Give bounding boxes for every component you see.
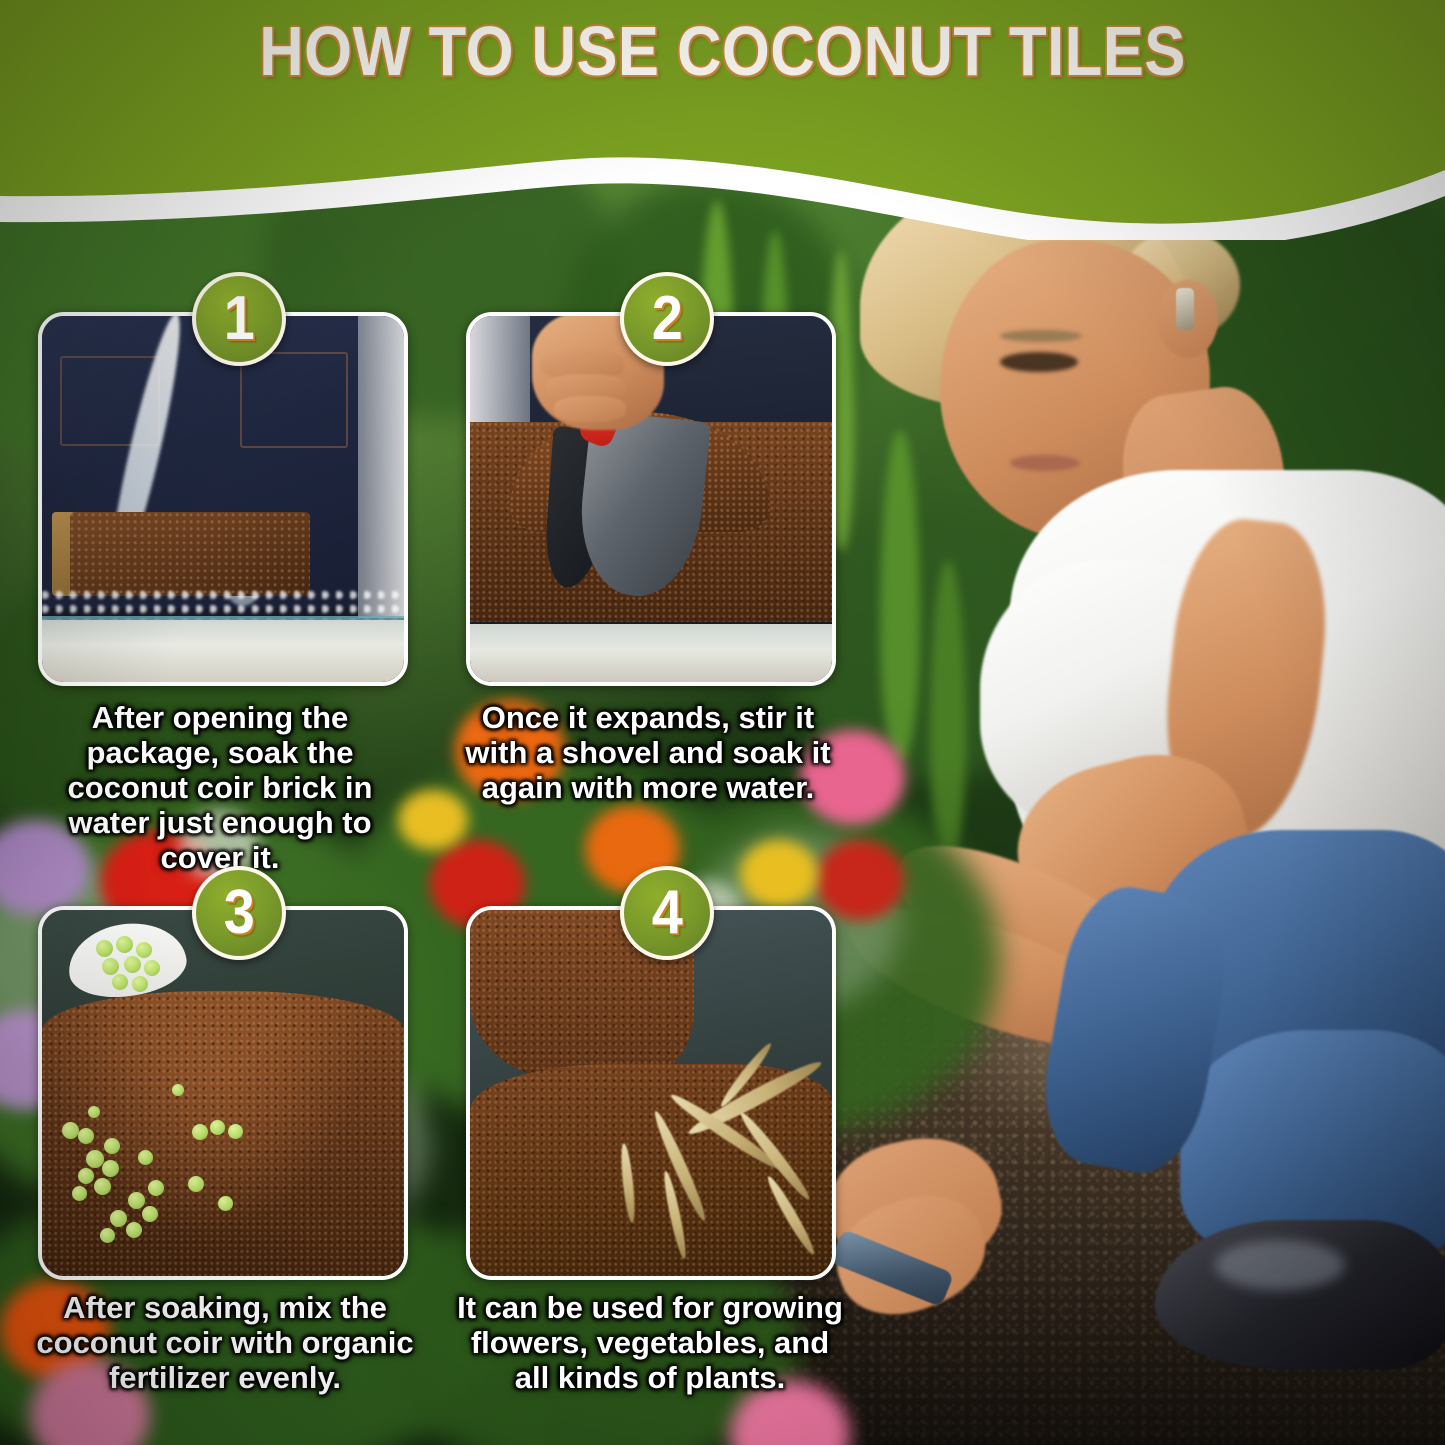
table-surface [470,624,832,682]
fertilizer-pellet [172,1084,184,1096]
step-caption-4: It can be used for growing flowers, vege… [450,1290,850,1395]
fertilizer-pellet [126,1222,142,1238]
fertilizer-pellet [112,974,128,990]
step-number-4: 4 [651,882,682,944]
denim-pocket [240,352,348,448]
fertilizer-pellet [94,1178,111,1195]
fertilizer-pellet [228,1124,243,1139]
step-number-1: 1 [223,288,254,350]
fertilizer-pellet [110,1210,127,1227]
step-panel-2[interactable] [466,312,836,686]
step-1-photo [42,316,404,682]
step-number-2: 2 [651,288,682,350]
step-panel-4[interactable] [466,906,836,1280]
fertilizer-pellet [102,958,119,975]
fertilizer-pellet [138,1150,153,1165]
fertilizer-pellet [100,1228,115,1243]
step-panel-3[interactable] [38,906,408,1280]
fertilizer-pellet [116,936,133,953]
tub-rim [358,316,404,618]
fertilizer-pellet [218,1196,233,1211]
woman-eye [1000,352,1078,372]
fertilizer-pellet [136,942,152,958]
fertilizer-pellet [62,1122,79,1139]
step-caption-1: After opening the package, soak the coco… [30,700,410,875]
step-badge-2: 2 [620,272,714,366]
flower-yellow [740,840,818,908]
fertilizer-pellet [144,960,160,976]
woman-mouth [1010,455,1080,471]
fertilizer-pellet [124,956,141,973]
flower-red [816,840,904,920]
step-number-3: 3 [223,882,254,944]
fertilizer-pellet [210,1120,225,1135]
fertilizer-pellet [192,1124,208,1140]
fertilizer-pellet [188,1176,204,1192]
step-panel-1[interactable] [38,312,408,686]
fertilizer-pellet [142,1206,158,1222]
boot-highlight [1215,1240,1345,1290]
fertilizer-pellet [96,940,113,957]
step-badge-1: 1 [192,272,286,366]
step-caption-2: Once it expands, stir it with a shovel a… [458,700,838,805]
fertilizer-pellet [78,1168,94,1184]
coir-brick [70,512,310,596]
step-3-photo [42,910,404,1276]
step-caption-3: After soaking, mix the coconut coir with… [30,1290,420,1395]
step-4-photo [470,910,832,1276]
fertilizer-pellet [88,1106,100,1118]
earring [1176,288,1194,330]
step-2-photo [470,316,832,682]
finger [554,396,626,422]
step-badge-4: 4 [620,866,714,960]
fertilizer-pellet [78,1128,94,1144]
fertilizer-pellet [104,1138,120,1154]
infographic-canvas: HOW TO USE COCONUT TILES 1 After opening… [0,0,1445,1445]
fertilizer-pellet [132,976,148,992]
fertilizer-pellet [102,1160,119,1177]
fertilizer-pellet [148,1180,164,1196]
table-surface [42,620,404,682]
fertilizer-pellet [72,1186,87,1201]
step-badge-3: 3 [192,866,286,960]
coir-bed [42,991,404,1276]
woman-brow [1000,330,1082,342]
fertilizer-pellet [128,1192,145,1209]
